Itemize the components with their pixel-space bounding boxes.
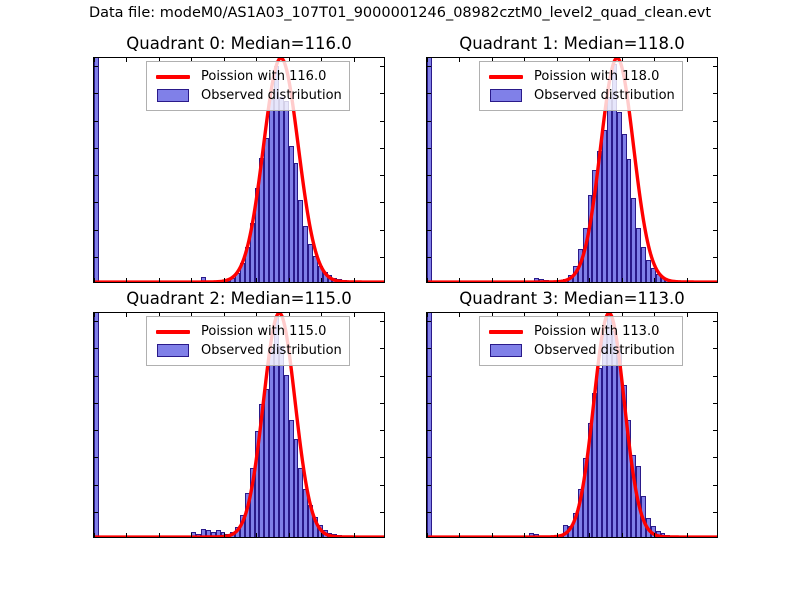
x-tick [622, 533, 623, 537]
y-tick [713, 257, 717, 258]
y-tick [380, 230, 384, 231]
x-tick [622, 278, 623, 282]
subplot-quadrant-1: Quadrant 1: Median=118.00100200300400500… [426, 57, 718, 283]
axes-frame-quadrant-1: 0100200300400500600700800020406080100120… [426, 57, 718, 283]
x-tick [354, 58, 355, 62]
legend-label-observed: Observed distribution [201, 89, 342, 102]
y-tick [94, 121, 98, 122]
legend-entry-observed: Observed distribution [154, 86, 342, 105]
legend-line-swatch-icon [154, 330, 192, 334]
x-tick [354, 533, 355, 537]
y-tick [94, 403, 98, 404]
y-tick [713, 230, 717, 231]
y-tick [713, 376, 717, 377]
x-tick [459, 533, 460, 537]
y-tick [713, 485, 717, 486]
x-tick [427, 313, 428, 317]
y-tick [427, 376, 431, 377]
x-tick [427, 533, 428, 537]
legend-quadrant-3[interactable]: Poission with 113.0Observed distribution [479, 316, 683, 366]
x-tick [589, 278, 590, 282]
y-tick [427, 257, 431, 258]
y-tick [713, 66, 717, 67]
y-tick [94, 348, 98, 349]
legend-quadrant-1[interactable]: Poission with 118.0Observed distribution [479, 61, 683, 111]
subplot-quadrant-2: Quadrant 2: Median=115.00100200300400500… [93, 312, 385, 538]
y-tick [380, 148, 384, 149]
y-tick [713, 348, 717, 349]
histogram-bar [357, 281, 362, 282]
legend-patch-swatch-icon [487, 89, 525, 102]
legend-entry-poisson: Poission with 116.0 [154, 67, 342, 86]
x-tick [427, 278, 428, 282]
x-tick [191, 533, 192, 537]
x-tick [687, 278, 688, 282]
legend-quadrant-0[interactable]: Poission with 116.0Observed distribution [146, 61, 350, 111]
legend-label-poisson: Poission with 113.0 [534, 325, 659, 338]
legend-quadrant-2[interactable]: Poission with 115.0Observed distribution [146, 316, 350, 366]
legend-entry-observed: Observed distribution [487, 86, 675, 105]
y-tick [94, 230, 98, 231]
legend-entry-poisson: Poission with 118.0 [487, 67, 675, 86]
y-tick [713, 175, 717, 176]
y-tick [713, 93, 717, 94]
y-tick [94, 485, 98, 486]
x-tick [557, 278, 558, 282]
y-tick [427, 457, 431, 458]
y-tick [380, 66, 384, 67]
x-tick [321, 533, 322, 537]
x-tick [459, 278, 460, 282]
y-tick [427, 93, 431, 94]
legend-label-poisson: Poission with 115.0 [201, 325, 326, 338]
x-tick [126, 533, 127, 537]
legend-label-poisson: Poission with 116.0 [201, 70, 326, 83]
histogram-bar [427, 313, 432, 537]
x-tick [289, 278, 290, 282]
histogram-bar [539, 536, 544, 537]
histogram-bar [206, 281, 211, 282]
x-tick [256, 533, 257, 537]
histogram-bar [94, 313, 99, 537]
histogram-bar [427, 58, 432, 282]
histogram-bar [94, 58, 99, 282]
histogram-bar [690, 281, 695, 282]
y-tick [94, 430, 98, 431]
y-tick [380, 257, 384, 258]
y-tick [94, 512, 98, 513]
x-tick [126, 58, 127, 62]
x-tick [94, 533, 95, 537]
legend-line-swatch-icon [487, 330, 525, 334]
y-tick [380, 93, 384, 94]
x-tick [159, 533, 160, 537]
axes-frame-quadrant-2: 0100200300400500600700800020406080100120… [93, 312, 385, 538]
y-tick [94, 257, 98, 258]
x-tick [191, 278, 192, 282]
y-tick [380, 403, 384, 404]
x-tick [459, 313, 460, 317]
y-tick [380, 430, 384, 431]
y-tick [380, 321, 384, 322]
legend-line-swatch-icon [487, 75, 525, 79]
y-tick [427, 202, 431, 203]
x-tick [256, 278, 257, 282]
y-tick [427, 348, 431, 349]
y-tick [713, 321, 717, 322]
y-tick [380, 457, 384, 458]
legend-label-observed: Observed distribution [201, 344, 342, 357]
x-tick [492, 533, 493, 537]
y-tick [713, 121, 717, 122]
y-tick [713, 430, 717, 431]
y-tick [94, 202, 98, 203]
x-tick [159, 278, 160, 282]
x-tick [94, 313, 95, 317]
y-tick [94, 376, 98, 377]
legend-label-observed: Observed distribution [534, 344, 675, 357]
x-tick [687, 313, 688, 317]
x-tick [687, 58, 688, 62]
x-tick [94, 58, 95, 62]
x-tick [224, 278, 225, 282]
axes-frame-quadrant-0: 0100200300400500600700800020406080100120… [93, 57, 385, 283]
y-tick [380, 485, 384, 486]
y-tick [380, 202, 384, 203]
subplot-quadrant-0: Quadrant 0: Median=116.00100200300400500… [93, 57, 385, 283]
legend-patch-swatch-icon [154, 89, 192, 102]
x-tick [126, 313, 127, 317]
y-tick [94, 457, 98, 458]
y-tick [713, 202, 717, 203]
y-tick [94, 93, 98, 94]
x-tick [524, 278, 525, 282]
y-tick [380, 175, 384, 176]
subplot-quadrant-3: Quadrant 3: Median=113.00100200300400500… [426, 312, 718, 538]
x-tick [321, 278, 322, 282]
y-tick [94, 66, 98, 67]
y-tick [713, 512, 717, 513]
y-tick [427, 430, 431, 431]
x-tick [354, 313, 355, 317]
subplot-title-quadrant-3: Quadrant 3: Median=113.0 [426, 289, 718, 308]
y-tick [380, 512, 384, 513]
histogram-bar [544, 280, 549, 282]
y-tick [380, 376, 384, 377]
x-tick [459, 58, 460, 62]
y-tick [713, 403, 717, 404]
x-tick [354, 278, 355, 282]
x-tick [224, 533, 225, 537]
x-tick [654, 533, 655, 537]
subplot-title-quadrant-2: Quadrant 2: Median=115.0 [93, 289, 385, 308]
legend-entry-poisson: Poission with 113.0 [487, 322, 675, 341]
y-tick [427, 403, 431, 404]
x-tick [687, 533, 688, 537]
x-tick [492, 278, 493, 282]
legend-entry-poisson: Poission with 115.0 [154, 322, 342, 341]
legend-label-observed: Observed distribution [534, 89, 675, 102]
y-tick [713, 148, 717, 149]
y-tick [380, 121, 384, 122]
x-tick [289, 533, 290, 537]
y-tick [427, 66, 431, 67]
y-tick [427, 512, 431, 513]
legend-patch-swatch-icon [154, 344, 192, 357]
x-tick [94, 278, 95, 282]
figure-suptitle: Data file: modeM0/AS1A03_107T01_90000012… [0, 5, 800, 21]
x-tick [126, 278, 127, 282]
y-tick [713, 457, 717, 458]
x-tick [524, 533, 525, 537]
subplot-title-quadrant-0: Quadrant 0: Median=116.0 [93, 34, 385, 53]
y-tick [427, 321, 431, 322]
y-tick [427, 148, 431, 149]
legend-patch-swatch-icon [487, 344, 525, 357]
y-tick [94, 175, 98, 176]
figure-canvas: Data file: modeM0/AS1A03_107T01_90000012… [0, 0, 800, 600]
y-tick [427, 175, 431, 176]
x-tick [654, 278, 655, 282]
x-tick [557, 533, 558, 537]
x-tick [427, 58, 428, 62]
y-tick [94, 148, 98, 149]
y-tick [427, 121, 431, 122]
y-tick [380, 348, 384, 349]
legend-line-swatch-icon [154, 75, 192, 79]
x-tick [589, 533, 590, 537]
legend-label-poisson: Poission with 118.0 [534, 70, 659, 83]
y-tick [94, 321, 98, 322]
y-tick [427, 230, 431, 231]
legend-entry-observed: Observed distribution [154, 341, 342, 360]
axes-frame-quadrant-3: 0100200300400500600700800020406080100120… [426, 312, 718, 538]
legend-entry-observed: Observed distribution [487, 341, 675, 360]
subplot-title-quadrant-1: Quadrant 1: Median=118.0 [426, 34, 718, 53]
y-tick [427, 485, 431, 486]
